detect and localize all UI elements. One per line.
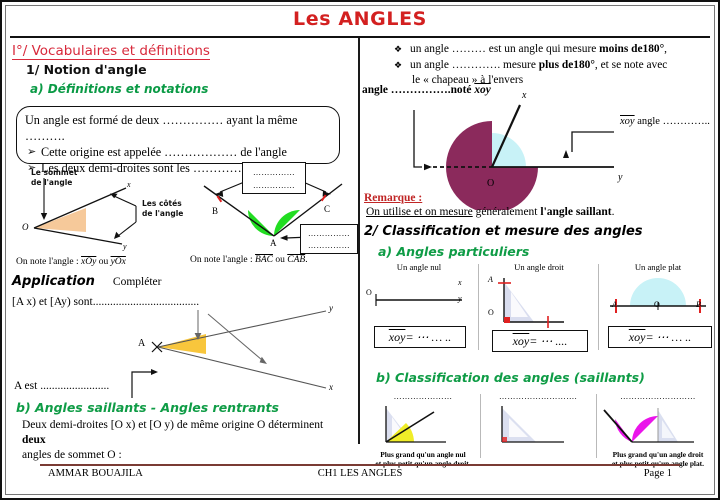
point-c-label: C: [324, 204, 330, 214]
ray-x-label: x: [329, 382, 333, 392]
blank-box-top: …………… ……………: [242, 162, 306, 194]
subsection-1b-text: Deux demi-droites [O x) et [O y) de même…: [22, 418, 346, 463]
elbow-pointer-arrow: [151, 369, 158, 375]
remarque-heading: Remarque :: [364, 192, 422, 204]
point-o-label: O: [487, 178, 494, 189]
application-line-2: A est ........................: [14, 380, 109, 392]
panel-title: Un angle plat: [602, 262, 714, 272]
panel-blank-line: ………………………: [602, 392, 714, 401]
vertex-pointer-arrow: [41, 213, 47, 220]
ray-x-label: x: [522, 90, 526, 101]
answer-blank: = ⋯ ....: [529, 334, 567, 349]
panel-angle-nul: Un angle nul O x y xoy = ⋯ … ..: [362, 262, 476, 322]
diamond-bullet-icon: ❖: [394, 42, 402, 58]
note-conjunction: ou: [273, 255, 287, 265]
footer-chapter: CH1 LES ANGLES: [18, 468, 702, 479]
application-verb: Compléter: [113, 276, 162, 288]
sub1b-text-bold: deux: [22, 434, 46, 446]
panel-caption-line-1: Plus grand qu'un angle droit: [602, 450, 714, 459]
page-footer: AMMAR BOUAJILA CH1 LES ANGLES Page 1: [18, 468, 702, 486]
bullet-rentrant-bold: plus de180°: [539, 59, 595, 71]
answer-blank: = ⋯ … ..: [405, 330, 451, 345]
blank-box-right-line-1: ……………: [301, 229, 357, 238]
panel-obtuse-angle: ……………………… Plus grand qu'un angle droit e…: [602, 392, 714, 468]
remarque-underlined-part: On utilise et on mesure: [366, 206, 473, 218]
point-a-label: A: [138, 338, 145, 349]
definition-bullet-1: ➢ Cette origine est appelée ……………… de l'…: [25, 144, 331, 160]
ray-ay: [158, 311, 326, 347]
sides-arrow-lower: [114, 232, 120, 239]
subsection-1a-heading: a) Définitions et notations: [30, 82, 208, 96]
point-a-label: A: [270, 238, 277, 248]
point-o-label: O: [22, 222, 29, 232]
panel-right-angle: ……………………….: [486, 392, 590, 450]
salient-caption-text: angle …………..: [635, 116, 710, 127]
note-angle-b: yOx: [111, 257, 126, 267]
application-block: Application Compléter: [12, 272, 161, 290]
note-prefix: On note l'angle :: [190, 255, 255, 265]
arrow-bullet-icon: ➢: [27, 144, 36, 160]
obtuse-sector-fill-1: [632, 416, 658, 442]
sides-label-line-1: Les côtés: [142, 199, 182, 208]
answer-symbol: xoy: [629, 330, 646, 345]
angle-type-bullets: ❖ un angle ……… est un angle qui mesure m…: [392, 42, 710, 89]
point-a-label: A: [612, 300, 617, 309]
definition-bullet-1-text: Cette origine est appelée ……………… de l'an…: [41, 145, 287, 159]
panel-caption-line-1: Plus grand qu'un angle nul: [368, 450, 478, 459]
blank-box-top-line-1: ……………: [243, 168, 305, 177]
angle-sector-fill: [248, 210, 274, 236]
panel-title: Un angle nul: [362, 262, 476, 272]
panel-title: Un angle droit: [482, 262, 596, 272]
panel-separator-1: [478, 264, 479, 350]
point-o-label: O: [366, 288, 372, 297]
subsection-2a-heading: a) Angles particuliers: [378, 244, 529, 259]
salient-leader: [572, 132, 614, 152]
definition-line-1: Un angle est formé de deux …………… ayant l…: [25, 112, 331, 144]
subsection-1b-heading: b) Angles saillants - Angles rentrants: [16, 400, 279, 415]
blank-box-top-line-2: ……………: [243, 181, 305, 190]
blank-box-right: …………… ……………: [300, 224, 358, 254]
panel-blank-line: ……………………….: [486, 392, 590, 401]
page-title: Les ANGLES: [10, 8, 710, 30]
worksheet-page: Les ANGLES I°/ Vocabulaires et définitio…: [0, 0, 720, 500]
arrow-diag-head: [260, 357, 267, 364]
answer-symbol: xoy: [513, 334, 530, 349]
panel-separator-1: [480, 394, 481, 458]
section-1-heading: I°/ Vocabulaires et définitions: [12, 44, 210, 60]
bullet-saillant-bold: moins de180°: [599, 43, 664, 55]
column-divider: [358, 38, 360, 444]
ray-x-label: x: [458, 278, 462, 287]
figure-application: A y x: [130, 302, 356, 402]
reflex-leader-arrow: [424, 164, 432, 170]
application-label: Application: [12, 274, 95, 289]
point-o-label: O: [488, 308, 494, 317]
obtuse-ray: [604, 410, 632, 442]
bullet-rentrant-text: un angle …………. mesure: [410, 59, 539, 71]
answer-box-angle-plat[interactable]: xoy = ⋯ … ..: [608, 326, 712, 348]
title-divider: [10, 36, 710, 38]
right-angle-marker: [504, 317, 510, 323]
classification-panels: ………………… Plus grand qu'un angle nul et pl…: [362, 392, 714, 472]
ray-y-label: y: [123, 242, 127, 251]
point-b-label: B: [212, 206, 218, 216]
bullet-saillant-post: ,: [664, 43, 667, 55]
bullet-saillant: ❖ un angle ……… est un angle qui mesure m…: [392, 42, 710, 58]
particular-angles-panels: Un angle nul O x y xoy = ⋯ … .. Un angle…: [362, 262, 714, 374]
bullet-saillant-text: un angle ……… est un angle qui mesure: [410, 43, 599, 55]
arrow-to-a: [280, 235, 288, 241]
arrow-diag-line: [208, 314, 262, 360]
panel-angle-plat: Un angle plat A O B xoy = ⋯ … ..: [602, 262, 714, 326]
note-prefix: On note l'angle :: [16, 257, 81, 267]
answer-symbol: xoy: [389, 330, 406, 345]
subsection-2b-heading: b) Classification des angles (saillants): [376, 370, 645, 385]
figure-2-note: On note l'angle : BAC ou CAB.: [190, 255, 308, 265]
note-angle-a: BAC: [255, 255, 273, 265]
remarque-bold-part: l'angle saillant: [540, 206, 611, 218]
section-2-heading: 2/ Classification et mesure des angles: [364, 224, 643, 239]
answer-box-angle-droit[interactable]: xoy = ⋯ ....: [492, 330, 588, 352]
panel-separator-2: [598, 264, 599, 350]
footer-divider: [40, 464, 680, 467]
panel-separator-2: [596, 394, 597, 458]
reflex-angle-caption: angle …………….noté xoy: [362, 84, 491, 96]
subsection-1-heading: 1/ Notion d'angle: [26, 62, 147, 77]
panel-acute-angle: ………………… Plus grand qu'un angle nul et pl…: [368, 392, 478, 468]
ray-x-label: x: [127, 180, 131, 189]
vertex-label-line-1: Le sommet: [31, 168, 77, 177]
ray-y-label: y: [329, 303, 333, 313]
panel-blank-line: …………………: [368, 392, 478, 401]
point-o-label: O: [654, 300, 660, 309]
reflex-caption-symbol: xoy: [474, 84, 490, 96]
sides-leader-lower: [118, 222, 136, 236]
salient-angle-fill: [492, 133, 526, 167]
figure-angle-bac: …………… …………… …………… …………… B C A On note l'…: [190, 166, 356, 270]
salient-caption-symbol: xoy: [620, 116, 635, 127]
note-conjunction: ou: [96, 257, 110, 267]
ray-y-label: y: [618, 172, 622, 183]
sides-label-line-2: de l'angle: [142, 209, 183, 218]
sides-leader-upper: [114, 196, 136, 206]
sub1b-text-part-2: angles de sommet O :: [22, 448, 346, 463]
remarque-period: .: [612, 206, 615, 218]
angle-sector-fill-2: [274, 210, 300, 236]
bullet-rentrant-post: , et se note avec: [595, 59, 667, 71]
remarque-text: On utilise et on mesure généralement l'a…: [366, 206, 615, 218]
vertex-label-line-2: de l'angle: [31, 178, 72, 187]
remarque-middle-part: généralement: [473, 206, 541, 218]
salient-angle-caption: xoy angle …………..: [620, 116, 710, 127]
angle-sector-fill: [34, 208, 86, 232]
reflex-leader: [414, 110, 422, 167]
left-column: I°/ Vocabulaires et définitions 1/ Notio…: [10, 40, 356, 442]
diamond-bullet-icon: ❖: [394, 58, 402, 74]
answer-blank: = ⋯ … ..: [645, 330, 691, 345]
figure-angle-xoy: Le sommet de l'angle Les côtés de l'angl…: [14, 170, 184, 270]
ray-y-label: y: [458, 294, 462, 303]
ray-ax: [158, 347, 326, 388]
point-a-label: A: [488, 275, 493, 284]
reflex-caption-text: angle …………….noté: [362, 84, 474, 96]
elbow-pointer-line: [132, 372, 152, 398]
footer-page-number: Page 1: [644, 468, 672, 479]
salient-leader-arrow: [563, 150, 569, 158]
definition-box: Un angle est formé de deux …………… ayant l…: [16, 106, 340, 164]
point-b-label: B: [696, 300, 701, 309]
answer-box-angle-nul[interactable]: xoy = ⋯ … ..: [374, 326, 466, 348]
note-suffix: .: [305, 255, 307, 265]
panel-angle-droit: Un angle droit A O xoy = ⋯ ....: [482, 262, 596, 332]
figure-1-note: On note l'angle : xOy ou yOx: [16, 257, 126, 267]
note-angle-b: CAB: [287, 255, 305, 265]
right-angle-marker: [502, 437, 507, 442]
note-angle-a: xOy: [81, 257, 96, 267]
right-column: ❖ un angle ……… est un angle qui mesure m…: [362, 40, 714, 442]
blank-box-right-line-2: ……………: [301, 241, 357, 250]
sub1b-text-part-1: Deux demi-droites [O x) et [O y) de même…: [22, 419, 323, 431]
